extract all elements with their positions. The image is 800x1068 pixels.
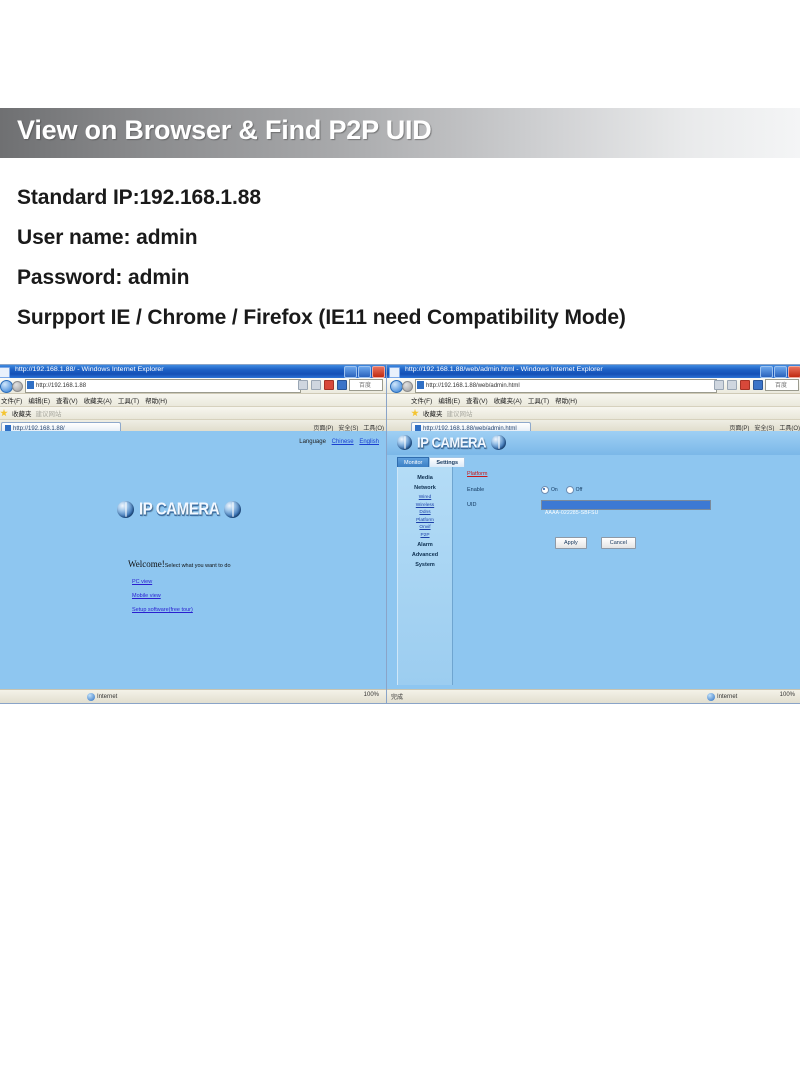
tab-settings[interactable]: Settings xyxy=(429,457,465,467)
tab-monitor[interactable]: Monitor xyxy=(397,457,429,467)
browser-window-settings: http://192.168.1.88/web/admin.html - Win… xyxy=(386,364,800,704)
internet-zone-icon xyxy=(87,693,95,701)
sidebar-item-ddns[interactable]: Ddns xyxy=(398,510,452,515)
uid-input[interactable]: AAAA-022285-SBFSU xyxy=(541,500,711,510)
left-status-zone: Internet xyxy=(87,693,117,701)
suggested-sites-label-right[interactable]: 建议网站 xyxy=(447,408,473,418)
right-menu-bar: 文件(F) 编辑(E) 查看(V) 收藏夹(A) 工具(T) 帮助(H) xyxy=(387,394,800,407)
link-mobile-view[interactable]: Mobile view xyxy=(132,593,193,599)
radio-off-icon[interactable] xyxy=(566,486,574,494)
close-icon-right[interactable] xyxy=(788,366,800,378)
camera-logo-text-settings: IP CAMERA xyxy=(417,434,486,451)
left-menu-bar: 文件(F) 编辑(E) 查看(V) 收藏夹(A) 工具(T) 帮助(H) xyxy=(0,394,387,407)
apply-button[interactable]: Apply xyxy=(555,537,587,549)
form-button-row: Apply Cancel xyxy=(555,537,636,549)
camera-settings-page: IP CAMERA Monitor Settings Media Network… xyxy=(387,431,800,689)
right-titlebar: http://192.168.1.88/web/admin.html - Win… xyxy=(387,365,800,378)
sidebar-item-wired[interactable]: Wired xyxy=(398,495,452,500)
camera-logo-home: IP CAMERA xyxy=(117,501,241,518)
settings-sidebar: Media Network Wired Wireless Ddns Platfo… xyxy=(397,467,453,685)
welcome-text: Welcome!Select what you want to do xyxy=(128,559,231,569)
left-search-input[interactable]: 百度 xyxy=(349,379,383,391)
menu-tools-right[interactable]: 工具(T) xyxy=(528,395,549,405)
radio-on-icon[interactable] xyxy=(541,486,549,494)
left-titlebar: http://192.168.1.88/ - Windows Internet … xyxy=(0,365,387,378)
menu-edit[interactable]: 编辑(E) xyxy=(28,395,50,405)
left-status-zone-label: Internet xyxy=(97,694,117,700)
sidebar-item-network[interactable]: Network xyxy=(398,485,452,491)
form-section-title: Platform xyxy=(467,471,487,477)
menu-file-right[interactable]: 文件(F) xyxy=(411,395,432,405)
menu-file[interactable]: 文件(F) xyxy=(1,395,22,405)
maximize-icon-right[interactable] xyxy=(774,366,787,378)
sidebar-item-media[interactable]: Media xyxy=(398,475,452,481)
compatibility-icon-right[interactable] xyxy=(714,380,724,390)
refresh-icon-right[interactable] xyxy=(727,380,737,390)
right-status-bar: 完成 Internet 100% xyxy=(387,689,800,703)
camera-home-page: Language Chinese English IP CAMERA Welco… xyxy=(0,431,387,689)
globe-icon-left xyxy=(117,501,134,518)
camera-home-links: PC view Mobile view Setup software(free … xyxy=(132,579,193,621)
maximize-icon[interactable] xyxy=(358,366,371,378)
radio-off-label: Off xyxy=(576,487,583,493)
camera-logo-settings: IP CAMERA xyxy=(397,435,506,450)
left-window-title: http://192.168.1.88/ - Windows Internet … xyxy=(15,366,164,372)
cancel-button[interactable]: Cancel xyxy=(601,537,636,549)
language-link-english[interactable]: English xyxy=(359,439,379,445)
ie-icon xyxy=(0,367,10,378)
language-link-chinese[interactable]: Chinese xyxy=(332,439,354,445)
language-label: Language xyxy=(299,439,326,445)
right-status-zone: Internet xyxy=(707,693,737,701)
camera-logo-text: IP CAMERA xyxy=(139,500,219,520)
sidebar-item-onvif[interactable]: Onvif xyxy=(398,525,452,530)
right-address-input[interactable]: http://192.168.1.88/web/admin.html xyxy=(415,379,717,393)
forward-icon-right[interactable] xyxy=(402,381,413,392)
info-line-ip: Standard IP:192.168.1.88 xyxy=(17,186,787,210)
uid-label: UID xyxy=(467,502,476,508)
left-address-input[interactable]: http://192.168.1.88 xyxy=(25,379,301,393)
left-favorites-bar: 收藏夹 建议网站 xyxy=(0,407,387,420)
favorites-label-right[interactable]: 收藏夹 xyxy=(423,408,443,418)
sidebar-item-p2p[interactable]: P2P xyxy=(398,533,452,538)
menu-help-right[interactable]: 帮助(H) xyxy=(555,395,577,405)
minimize-icon-right[interactable] xyxy=(760,366,773,378)
internet-zone-icon-right xyxy=(707,693,715,701)
forward-icon[interactable] xyxy=(12,381,23,392)
radio-off[interactable]: Off xyxy=(566,486,583,494)
settings-tabs: Monitor Settings xyxy=(397,457,465,467)
welcome-heading: Welcome! xyxy=(128,559,165,569)
stop-icon-right[interactable] xyxy=(740,380,750,390)
welcome-subtext: Select what you want to do xyxy=(165,563,231,569)
right-address-bar: http://192.168.1.88/web/admin.html 百度 xyxy=(387,378,800,394)
left-address-icons xyxy=(298,380,347,390)
close-icon[interactable] xyxy=(372,366,385,378)
address-favicon-icon xyxy=(27,381,34,389)
language-selector: Language Chinese English xyxy=(299,439,379,445)
refresh-icon[interactable] xyxy=(311,380,321,390)
menu-view[interactable]: 查看(V) xyxy=(56,395,78,405)
uid-value: AAAA-022285-SBFSU xyxy=(542,510,598,516)
window-divider xyxy=(386,728,387,1068)
suggested-sites-label[interactable]: 建议网站 xyxy=(36,408,62,418)
ie-icon-right xyxy=(389,367,400,378)
globe-icon-right xyxy=(224,501,241,518)
link-setup-software[interactable]: Setup software(free tour) xyxy=(132,607,193,613)
globe-icon-left-settings xyxy=(397,435,412,450)
enable-radio-group[interactable]: On Off xyxy=(541,486,582,494)
menu-tools[interactable]: 工具(T) xyxy=(118,395,139,405)
left-address-bar: http://192.168.1.88 百度 xyxy=(0,378,387,394)
left-status-bar: Internet 100% xyxy=(0,689,387,703)
browser-window-home: http://192.168.1.88/ - Windows Internet … xyxy=(0,364,388,704)
right-window-title: http://192.168.1.88/web/admin.html - Win… xyxy=(405,366,603,372)
sidebar-item-platform[interactable]: Platform xyxy=(398,518,452,523)
info-list: Standard IP:192.168.1.88 User name: admi… xyxy=(17,186,787,346)
address-favicon-icon-right xyxy=(417,381,424,389)
favorites-star-icon[interactable] xyxy=(0,409,8,417)
minimize-icon[interactable] xyxy=(344,366,357,378)
menu-favorites-right[interactable]: 收藏夹(A) xyxy=(494,395,522,405)
right-window-controls[interactable] xyxy=(760,366,800,378)
info-line-username: User name: admin xyxy=(17,226,787,250)
right-search-input[interactable]: 百度 xyxy=(765,379,799,391)
search-provider-icon-right[interactable] xyxy=(753,380,763,390)
right-status-zone-label: Internet xyxy=(717,694,737,700)
menu-edit-right[interactable]: 编辑(E) xyxy=(438,395,460,405)
right-zoom-value: 100% xyxy=(780,692,795,698)
right-status-text: 完成 xyxy=(391,692,403,701)
radio-on[interactable]: On xyxy=(541,486,558,494)
stop-icon[interactable] xyxy=(324,380,334,390)
sidebar-item-advanced[interactable]: Advanced xyxy=(398,552,452,558)
left-zoom-level[interactable]: 100% xyxy=(364,692,379,698)
page-title: View on Browser & Find P2P UID xyxy=(17,115,432,146)
favorites-label[interactable]: 收藏夹 xyxy=(12,408,32,418)
compatibility-icon[interactable] xyxy=(298,380,308,390)
left-window-controls[interactable] xyxy=(344,366,385,378)
page-banner: View on Browser & Find P2P UID xyxy=(0,108,800,158)
right-favorites-bar: 收藏夹 建议网站 xyxy=(387,407,800,420)
camera-settings-header: IP CAMERA xyxy=(387,431,800,455)
search-provider-icon[interactable] xyxy=(337,380,347,390)
radio-on-label: On xyxy=(551,487,558,493)
menu-favorites[interactable]: 收藏夹(A) xyxy=(84,395,112,405)
menu-view-right[interactable]: 查看(V) xyxy=(466,395,488,405)
sidebar-item-wireless[interactable]: Wireless xyxy=(398,503,452,508)
right-address-icons xyxy=(714,380,763,390)
info-line-password: Password: admin xyxy=(17,266,787,290)
left-zoom-value: 100% xyxy=(364,692,379,698)
sidebar-item-system[interactable]: System xyxy=(398,562,452,568)
right-zoom-level[interactable]: 100% xyxy=(780,692,795,698)
enable-label: Enable xyxy=(467,487,484,493)
info-line-browser-support: Surpport IE / Chrome / Firefox (IE11 nee… xyxy=(17,306,787,330)
favorites-star-icon-right[interactable] xyxy=(411,409,419,417)
menu-help[interactable]: 帮助(H) xyxy=(145,395,167,405)
globe-icon-right-settings xyxy=(491,435,506,450)
link-pc-view[interactable]: PC view xyxy=(132,579,193,585)
browser-screenshots: http://192.168.1.88/ - Windows Internet … xyxy=(0,364,800,704)
sidebar-item-alarm[interactable]: Alarm xyxy=(398,542,452,548)
